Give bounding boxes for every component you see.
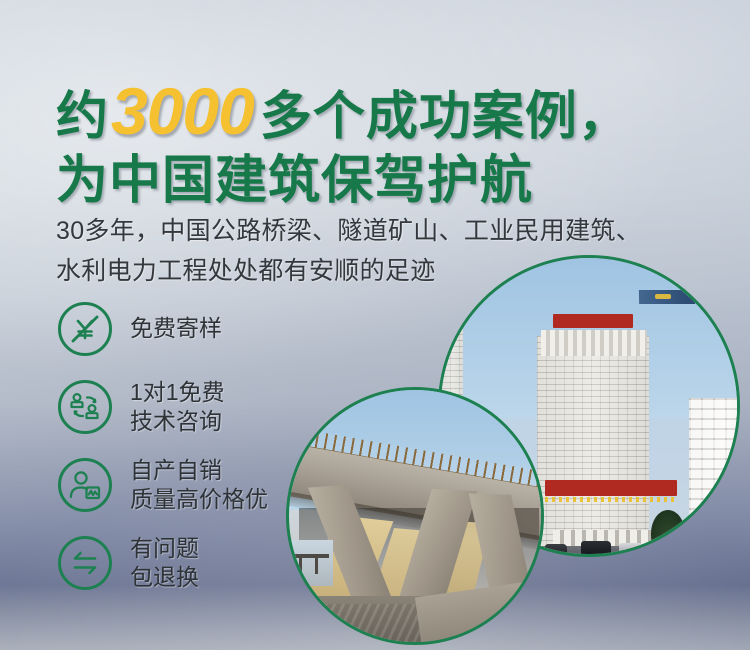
feature-text-consultation: 1对1免费 技术咨询 xyxy=(130,378,225,437)
headline-rest: 多个成功案例， xyxy=(260,88,631,146)
feature-item-free-sample: 免费寄样 xyxy=(58,298,358,360)
feature-text-free-sample: 免费寄样 xyxy=(130,314,222,343)
feature-item-consultation: 1对1免费 技术咨询 xyxy=(58,376,358,438)
subtitle-line-1: 30多年，中国公路桥梁、隧道矿山、工业民用建筑、 xyxy=(56,212,641,252)
headline: 约3000多个成功案例， 为中国建筑保驾护航 xyxy=(56,78,631,208)
feature-line: 质量高价格优 xyxy=(130,485,268,514)
two-people-exchange-icon xyxy=(58,380,112,434)
feature-line: 技术咨询 xyxy=(130,407,225,436)
headline-line-1: 约3000多个成功案例， xyxy=(56,78,631,145)
feature-line: 1对1免费 xyxy=(130,378,225,407)
feature-item-return-exchange: 有问题 包退换 xyxy=(58,532,358,594)
feature-text-self-production: 自产自销 质量高价格优 xyxy=(130,456,268,515)
headline-line-2: 为中国建筑保驾护航 xyxy=(56,155,631,208)
no-fee-yen-icon xyxy=(58,302,112,356)
feature-line: 自产自销 xyxy=(130,456,268,485)
person-quality-chart-icon xyxy=(58,458,112,512)
headline-number: 3000 xyxy=(109,74,260,148)
feature-line: 包退换 xyxy=(130,563,199,592)
headline-prefix: 约 xyxy=(56,88,109,146)
feature-item-self-production: 自产自销 质量高价格优 xyxy=(58,454,358,516)
feature-line: 免费寄样 xyxy=(130,314,222,343)
promo-banner: 约3000多个成功案例， 为中国建筑保驾护航 30多年，中国公路桥梁、隧道矿山、… xyxy=(0,0,750,650)
feature-list: 免费寄样 1对1免 xyxy=(58,298,358,610)
return-exchange-arrows-icon xyxy=(58,536,112,590)
feature-line: 有问题 xyxy=(130,534,199,563)
feature-text-return-exchange: 有问题 包退换 xyxy=(130,534,199,593)
